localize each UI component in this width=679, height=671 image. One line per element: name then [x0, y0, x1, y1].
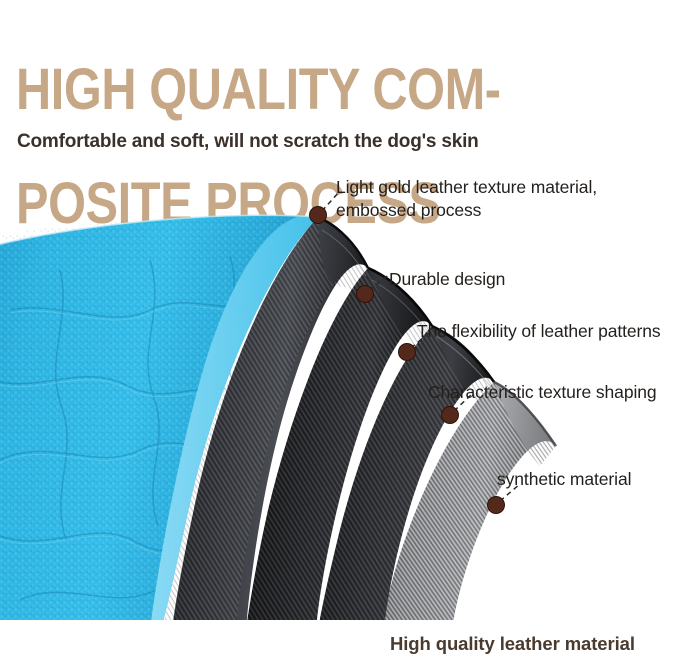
- callout-label-characteristic-texture-shaping: Characteristic texture shaping: [428, 381, 657, 404]
- headline-line-1: HIGH QUALITY COM-: [16, 61, 554, 118]
- page-subtitle: Comfortable and soft, will not scratch t…: [17, 131, 479, 153]
- infographic-page: HIGH QUALITY COM- POSITE PROCESS Comfort…: [0, 0, 679, 671]
- footer-note: High quality leather material: [390, 633, 635, 655]
- callout-label-light-gold-leather: Light gold leather texture material, emb…: [336, 176, 597, 222]
- callout-label-synthetic-material: synthetic material: [497, 468, 631, 491]
- callout-label-flexibility-leather-patterns: The flexibility of leather patterns: [417, 320, 661, 343]
- callout-label-durable-design: Durable design: [389, 268, 505, 291]
